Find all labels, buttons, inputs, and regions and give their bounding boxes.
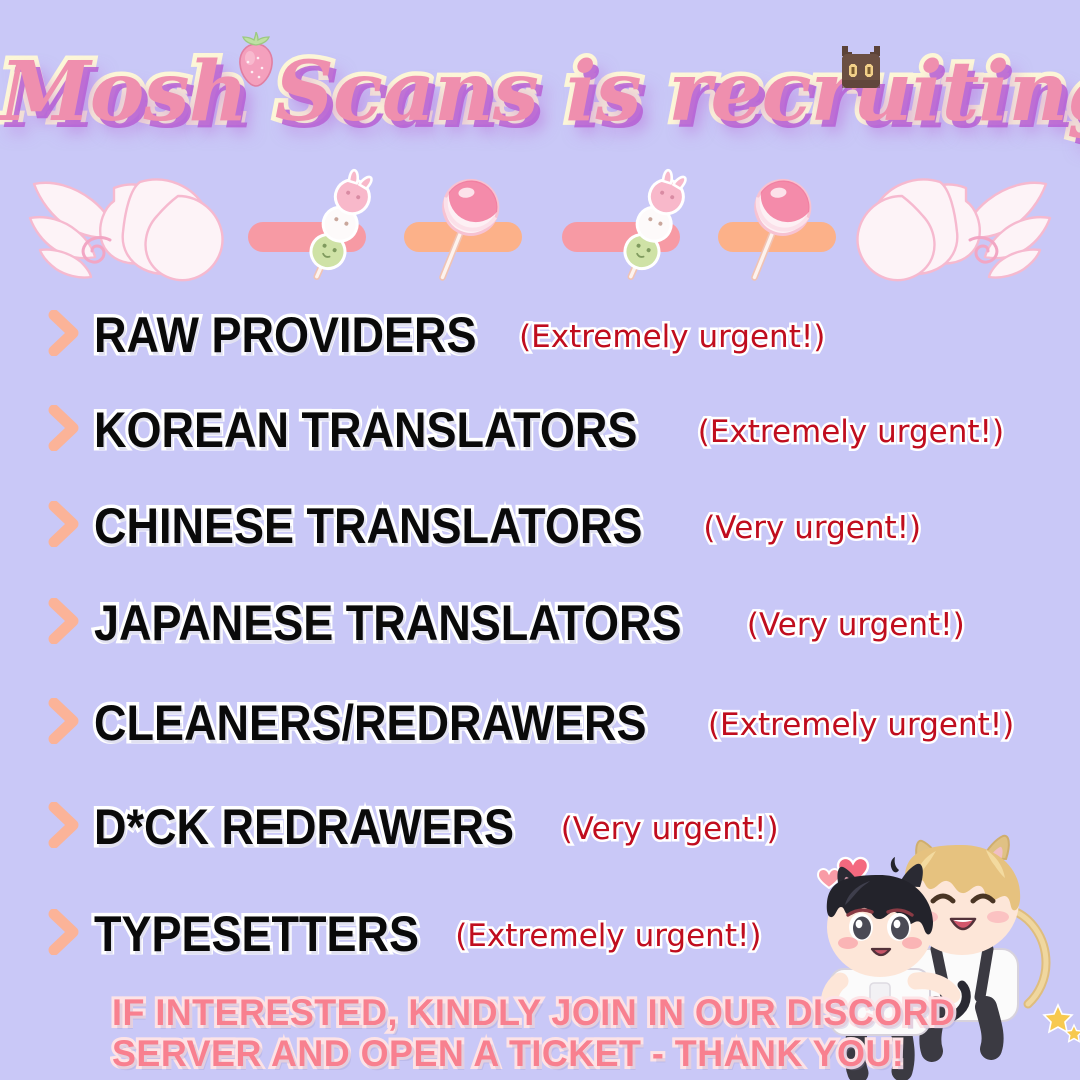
chevron-right-icon [46, 501, 80, 547]
footer-note: IF INTERESTED, KINDLY JOIN IN OUR DISCOR… [112, 992, 892, 1074]
strawberry-icon [232, 32, 280, 88]
chevron-right-icon [46, 909, 80, 955]
recruitment-poster: Mosh Scans is recruiting! [0, 0, 1080, 1080]
role-urgency: (Extremely urgent!) [455, 916, 761, 956]
role-urgency: (Extremely urgent!) [519, 317, 825, 357]
role-name: D*CK REDRAWERS [94, 799, 514, 855]
role-urgency: (Extremely urgent!) [708, 705, 1014, 745]
angel-wing-right-icon [840, 166, 1062, 290]
footer-line-1: IF INTERESTED, KINDLY JOIN IN OUR DISCOR… [112, 992, 869, 1033]
chevron-right-icon [46, 598, 80, 644]
page-title: Mosh Scans is recruiting! [0, 38, 1080, 146]
role-name: CLEANERS/REDRAWERS [94, 695, 647, 751]
role-urgency: (Very urgent!) [703, 508, 921, 548]
chevron-right-icon [46, 405, 80, 451]
chevron-right-icon [46, 698, 80, 744]
pixel-cat-head-icon [836, 40, 886, 92]
list-item: CLEANERS/REDRAWERS (Extremely urgent!) [46, 690, 1014, 756]
role-urgency: (Very urgent!) [561, 809, 779, 849]
role-name: JAPANESE TRANSLATORS [94, 595, 682, 651]
angel-wing-left-icon [18, 166, 240, 290]
lollipop-icon [420, 168, 506, 288]
list-item: JAPANESE TRANSLATORS (Very urgent!) [46, 590, 965, 656]
list-item: TYPESETTERS (Extremely urgent!) [46, 901, 762, 967]
role-urgency: (Very urgent!) [747, 605, 965, 645]
list-item: KOREAN TRANSLATORS (Extremely urgent!) [46, 397, 1004, 463]
list-item: D*CK REDRAWERS (Very urgent!) [46, 794, 779, 860]
chevron-right-icon [46, 802, 80, 848]
title-band: Mosh Scans is recruiting! [0, 38, 1080, 148]
star-icon [1044, 1005, 1080, 1042]
footer-line-2: SERVER AND OPEN A TICKET - THANK YOU! [112, 1033, 869, 1074]
bunny-dango-icon [610, 168, 696, 288]
role-name: TYPESETTERS [94, 906, 419, 962]
lollipop-icon [732, 168, 818, 288]
list-item: RAW PROVIDERS (Extremely urgent!) [46, 302, 825, 368]
bunny-dango-icon [296, 168, 382, 288]
role-urgency: (Extremely urgent!) [698, 412, 1004, 452]
list-item: CHINESE TRANSLATORS (Very urgent!) [46, 493, 921, 559]
decorative-divider [0, 162, 1080, 294]
role-name: KOREAN TRANSLATORS [94, 402, 637, 458]
chevron-right-icon [46, 310, 80, 356]
role-name: CHINESE TRANSLATORS [94, 498, 642, 554]
role-name: RAW PROVIDERS [94, 307, 477, 363]
